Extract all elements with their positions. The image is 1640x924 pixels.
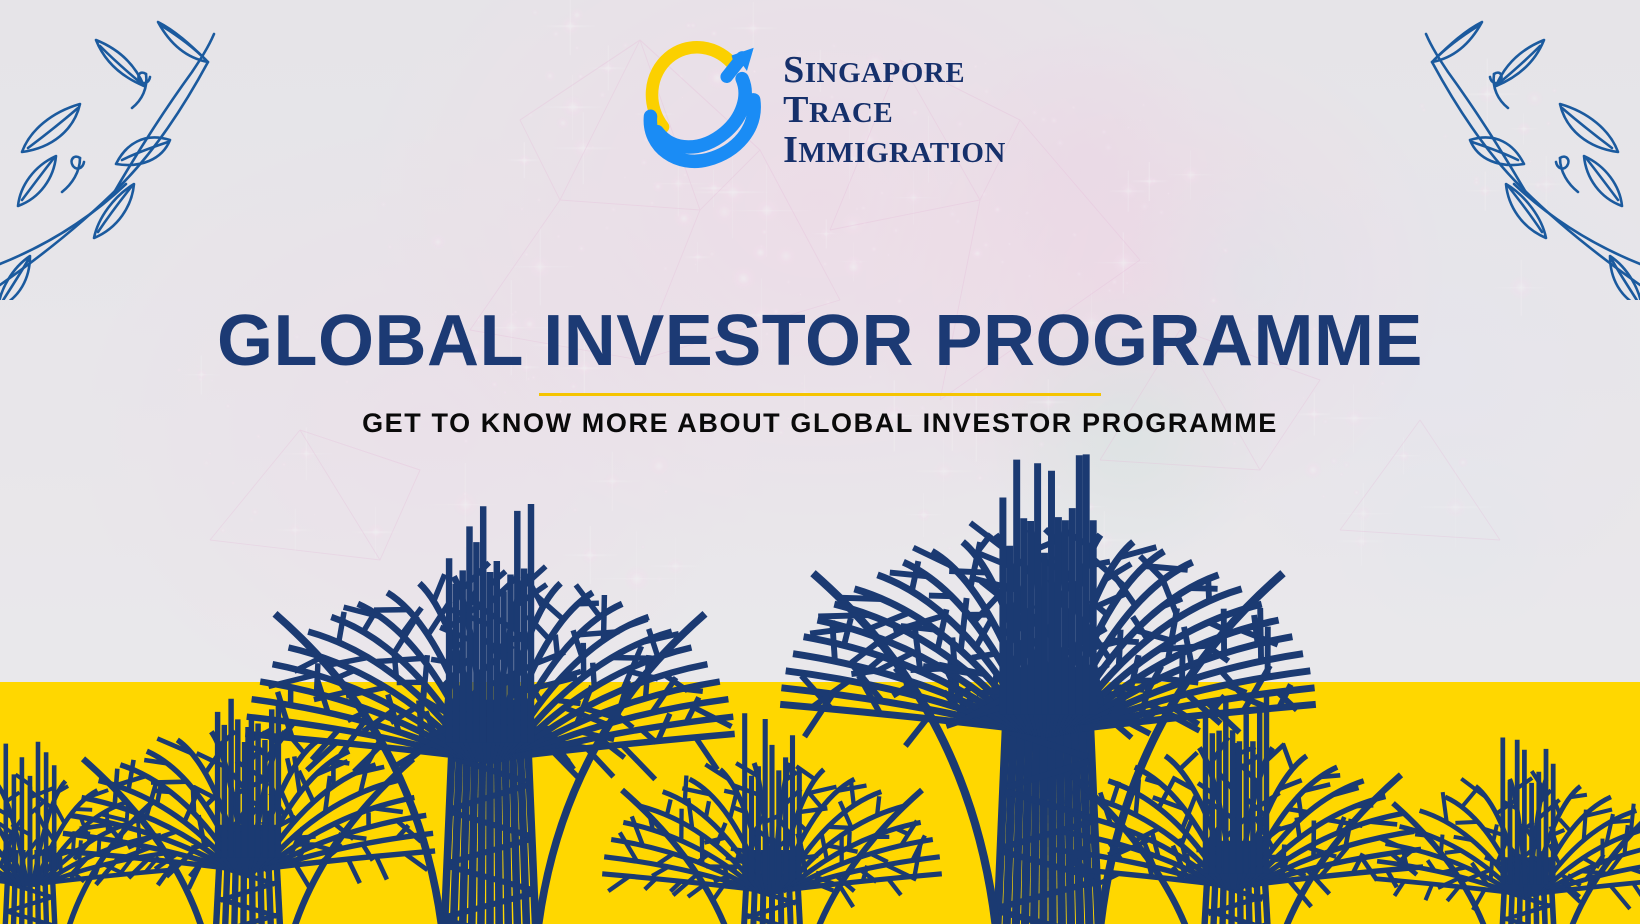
brand-logo-line-1-cap: S	[783, 49, 805, 91]
brand-logo-line-2: TRACE	[783, 90, 1006, 130]
brand-logo-line-3: IMMIGRATION	[783, 130, 1006, 170]
brand-logo-line-1-rest: INGAPORE	[805, 57, 965, 89]
brand-logo-line-2-cap: T	[783, 89, 809, 131]
globe-swoosh-logo-mark	[634, 40, 769, 180]
brand-logo-line-3-cap: I	[783, 129, 798, 171]
page-subtitle: GET TO KNOW MORE ABOUT GLOBAL INVESTOR P…	[0, 408, 1640, 439]
brand-logo-line-3-rest: MMIGRATION	[798, 137, 1005, 169]
title-underline-rule	[539, 393, 1101, 396]
banner: SINGAPORE TRACE IMMIGRATION GLOBAL INVES…	[0, 0, 1640, 924]
brand-logo-line-1: SINGAPORE	[783, 50, 1006, 90]
page-title: GLOBAL INVESTOR PROGRAMME	[0, 305, 1640, 378]
yellow-color-band	[0, 682, 1640, 924]
brand-logo-line-2-rest: RACE	[809, 97, 893, 129]
hero-heading-block: GLOBAL INVESTOR PROGRAMME GET TO KNOW MO…	[0, 305, 1640, 439]
brand-logo-text: SINGAPORE TRACE IMMIGRATION	[783, 50, 1006, 171]
brand-logo[interactable]: SINGAPORE TRACE IMMIGRATION	[634, 40, 1006, 180]
